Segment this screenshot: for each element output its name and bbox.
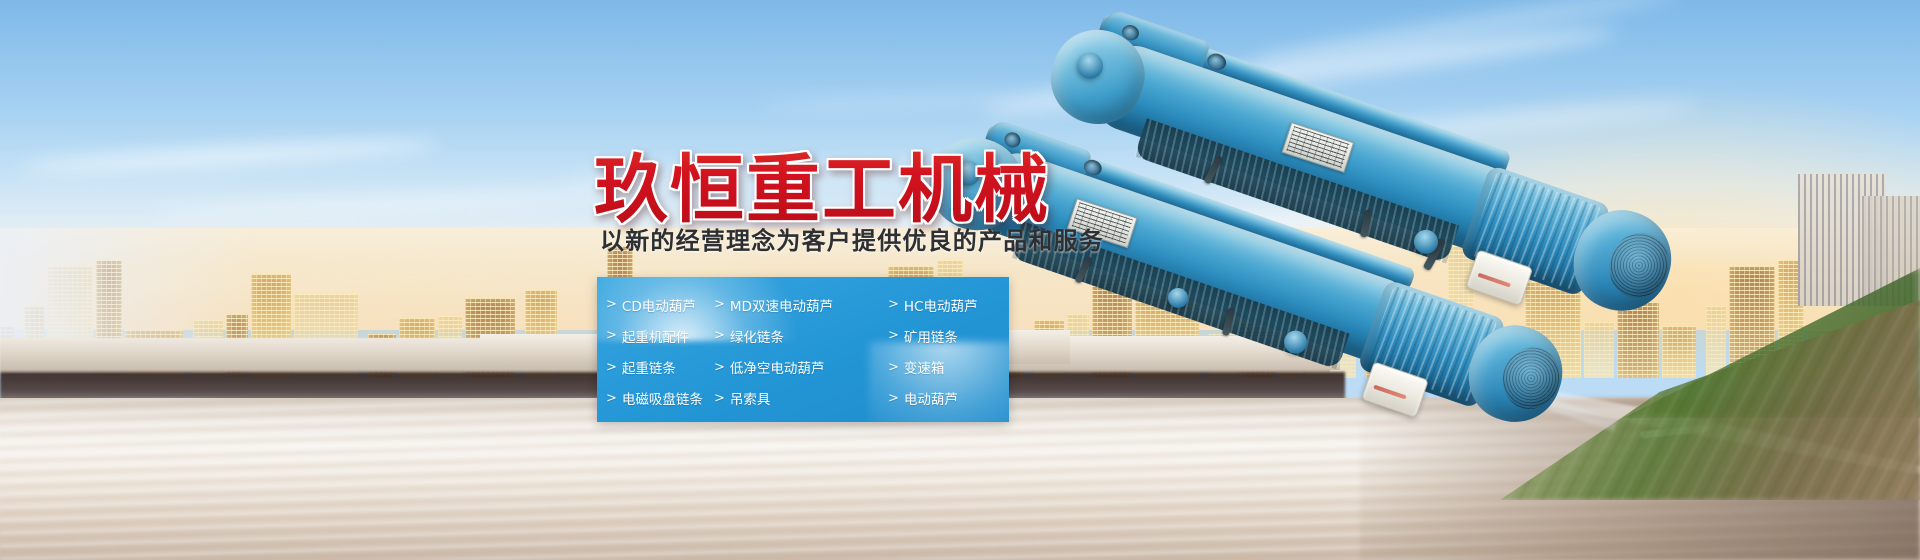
product-link-label: 电动葫芦 xyxy=(904,388,958,408)
product-link-label: MD双速电动葫芦 xyxy=(730,295,833,315)
product-link[interactable]: >起重机配件 xyxy=(606,326,714,346)
chevron-right-icon: > xyxy=(606,360,617,375)
product-link-label: 低净空电动葫芦 xyxy=(730,357,825,377)
chevron-right-icon: > xyxy=(888,297,899,312)
product-link[interactable]: >吊索具 xyxy=(714,388,854,408)
product-link[interactable]: >电动葫芦 xyxy=(854,388,1009,408)
chevron-right-icon: > xyxy=(606,297,617,312)
product-link-label: 电磁吸盘链条 xyxy=(622,388,703,408)
product-link[interactable]: >低净空电动葫芦 xyxy=(714,357,854,377)
product-link[interactable]: >变速箱 xyxy=(854,357,1009,377)
chevron-right-icon: > xyxy=(714,360,725,375)
product-link-label: 起重机配件 xyxy=(622,326,690,346)
product-link-label: 矿用链条 xyxy=(904,326,958,346)
chevron-right-icon: > xyxy=(606,391,617,406)
chevron-right-icon: > xyxy=(714,328,725,343)
product-link-label: 吊索具 xyxy=(730,388,771,408)
chevron-right-icon: > xyxy=(714,391,725,406)
promo-banner: 玖恒重工机械 以新的经营理念为客户提供优良的产品和服务 >CD电动葫芦>MD双速… xyxy=(0,0,1920,560)
product-link-label: HC电动葫芦 xyxy=(904,295,978,315)
chevron-right-icon: > xyxy=(714,297,725,312)
product-link[interactable]: >矿用链条 xyxy=(854,326,1009,346)
product-link-label: 绿化链条 xyxy=(730,326,784,346)
product-link[interactable]: >MD双速电动葫芦 xyxy=(714,295,854,315)
product-links-grid: >CD电动葫芦>MD双速电动葫芦>HC电动葫芦>起重机配件>绿化链条>矿用链条>… xyxy=(597,277,1009,422)
chevron-right-icon: > xyxy=(888,391,899,406)
product-link-label: 起重链条 xyxy=(622,357,676,377)
product-link[interactable]: >绿化链条 xyxy=(714,326,854,346)
company-tagline: 以新的经营理念为客户提供优良的产品和服务 xyxy=(600,221,1104,256)
chevron-right-icon: > xyxy=(606,328,617,343)
product-link-label: 变速箱 xyxy=(904,357,945,377)
product-link[interactable]: >CD电动葫芦 xyxy=(606,295,714,315)
chevron-right-icon: > xyxy=(888,360,899,375)
product-link[interactable]: >HC电动葫芦 xyxy=(854,295,1009,315)
product-link[interactable]: >电磁吸盘链条 xyxy=(606,388,714,408)
product-links-panel: >CD电动葫芦>MD双速电动葫芦>HC电动葫芦>起重机配件>绿化链条>矿用链条>… xyxy=(597,277,1009,422)
product-link[interactable]: >起重链条 xyxy=(606,357,714,377)
chevron-right-icon: > xyxy=(888,328,899,343)
product-link-label: CD电动葫芦 xyxy=(622,295,696,315)
